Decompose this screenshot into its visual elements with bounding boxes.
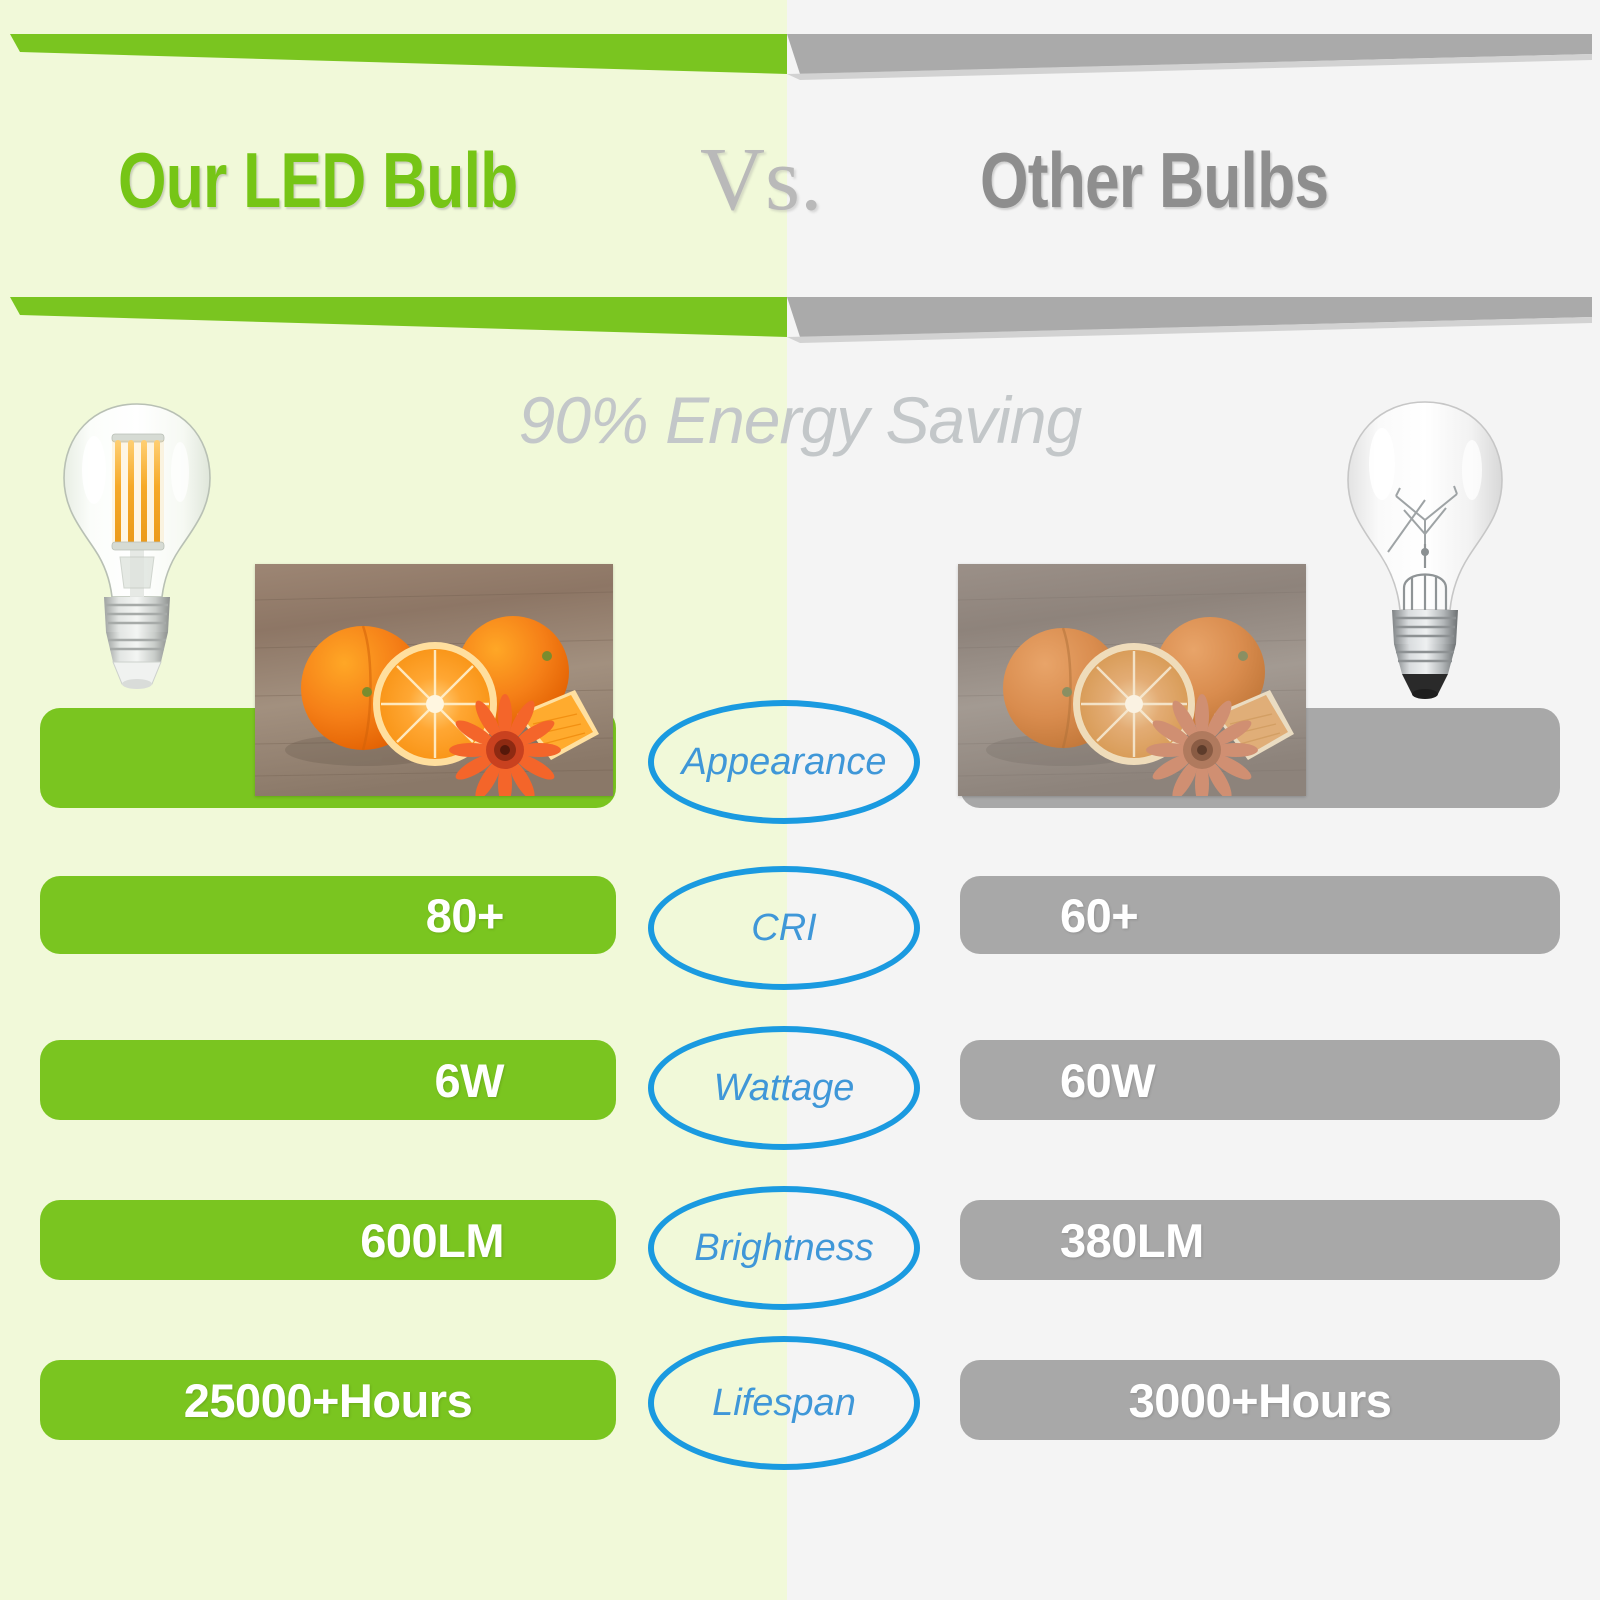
led-value-pill-lifespan: 25000+Hours	[40, 1360, 616, 1440]
other-value-pill-brightness: 380LM	[960, 1200, 1560, 1280]
header-band-bottom	[0, 285, 1600, 345]
category-label-brightness: Brightness	[648, 1186, 920, 1310]
category-label-wattage: Wattage	[648, 1026, 920, 1150]
led-value-pill-brightness: 600LM	[40, 1200, 616, 1280]
title-our-led-bulb: Our LED Bulb	[118, 135, 517, 226]
oranges-photo-vivid	[255, 564, 613, 796]
led-filament-bulb-icon	[42, 392, 232, 712]
title-versus: Vs.	[700, 128, 823, 231]
incandescent-bulb-icon	[1326, 392, 1524, 712]
oranges-photo-washed-out	[958, 564, 1306, 796]
other-value-pill-lifespan: 3000+Hours	[960, 1360, 1560, 1440]
category-label-cri: CRI	[648, 866, 920, 990]
led-comparison-infographic: Our LED Bulb Vs. Other Bulbs 90% Energy …	[0, 0, 1600, 1600]
led-value-pill-wattage: 6W	[40, 1040, 616, 1120]
title-other-bulbs: Other Bulbs	[980, 135, 1328, 226]
category-label-appearance: Appearance	[648, 700, 920, 824]
other-value-pill-cri: 60+	[960, 876, 1560, 954]
led-value-pill-cri: 80+	[40, 876, 616, 954]
header-band-top	[0, 22, 1600, 82]
other-value-pill-wattage: 60W	[960, 1040, 1560, 1120]
category-label-lifespan: Lifespan	[648, 1336, 920, 1470]
